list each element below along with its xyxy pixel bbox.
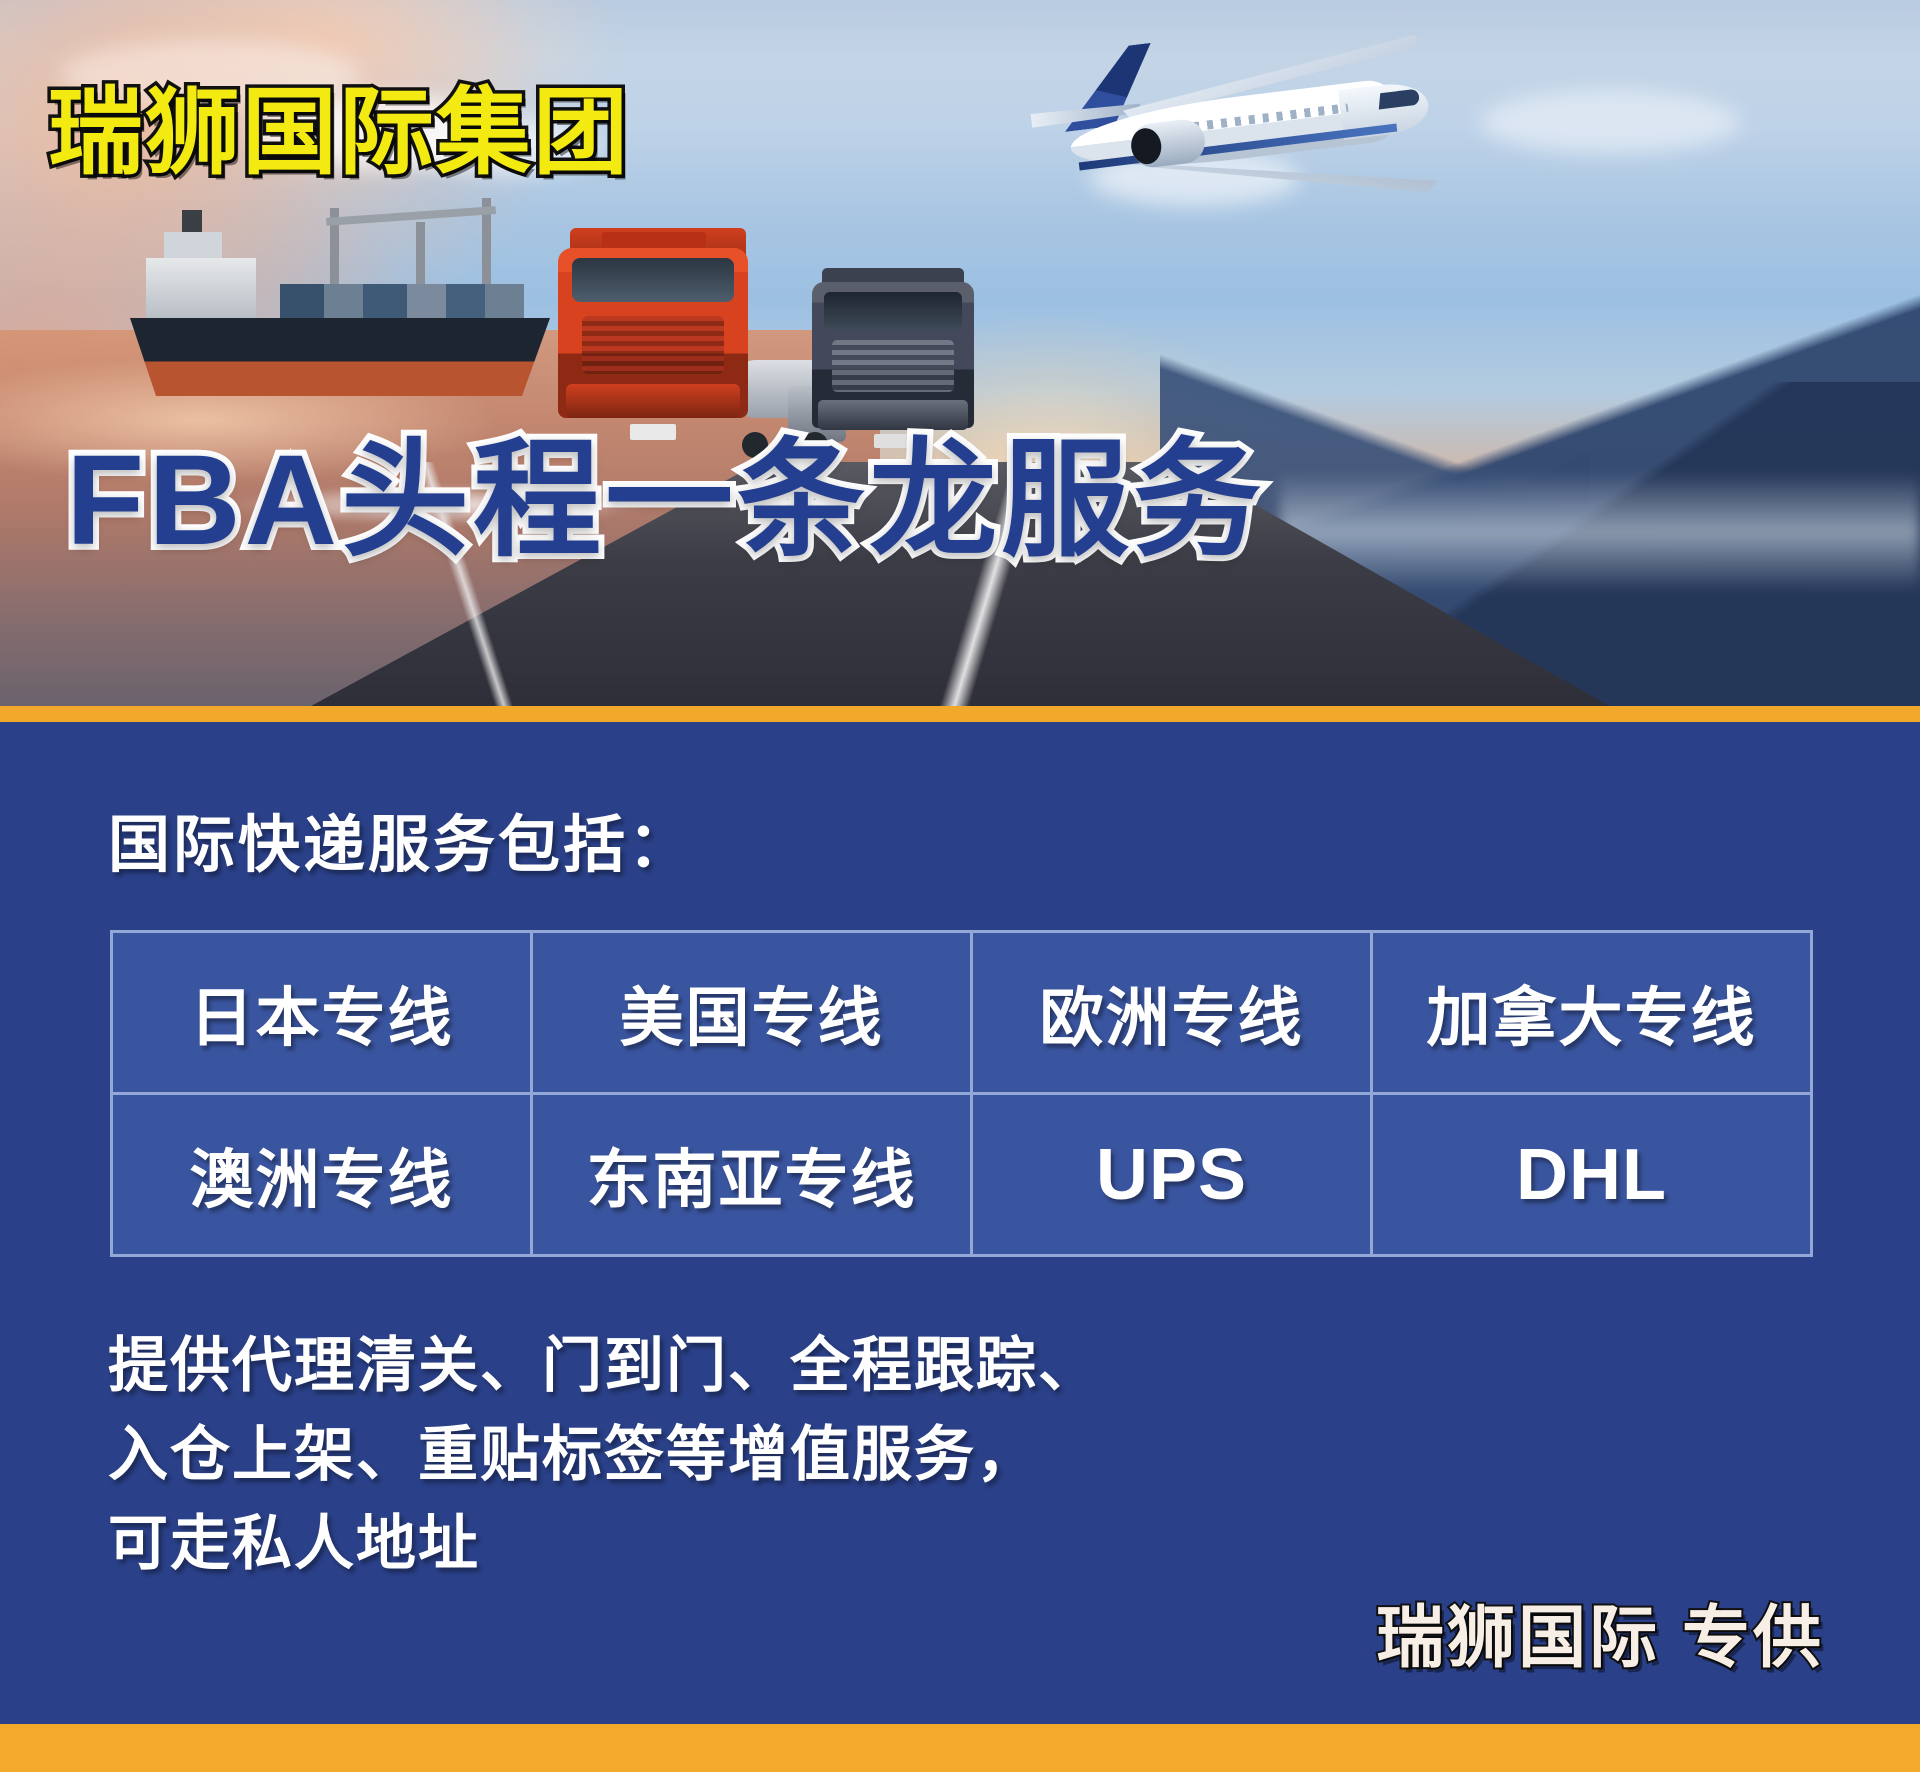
cloud-icon bbox=[1480, 90, 1740, 154]
service-cell-japan[interactable]: 日本专线 bbox=[112, 932, 532, 1094]
service-cell-sea[interactable]: 东南亚专线 bbox=[532, 1094, 972, 1256]
truck-grille bbox=[582, 316, 724, 374]
body-line-1: 提供代理清关、门到门、全程跟踪、 bbox=[108, 1322, 1428, 1411]
ship-bridge bbox=[164, 232, 222, 258]
ship-funnel bbox=[182, 210, 202, 232]
ship-hull bbox=[130, 318, 550, 396]
poster-root: 瑞狮国际集团 FBA头程一条龙服务 国际快递服务包括： 日本专线 美国专线 欧洲… bbox=[0, 0, 1920, 1772]
truck-windshield bbox=[824, 292, 962, 330]
hero-banner: 瑞狮国际集团 FBA头程一条龙服务 bbox=[0, 0, 1920, 712]
red-truck-icon bbox=[558, 228, 768, 460]
footer-brand-text: 瑞狮国际 专供 bbox=[1376, 1582, 1824, 1681]
ship-superstructure bbox=[146, 258, 256, 318]
services-panel: 国际快递服务包括： 日本专线 美国专线 欧洲专线 加拿大专线 澳洲专线 东南亚专… bbox=[0, 722, 1920, 1724]
service-cell-europe[interactable]: 欧洲专线 bbox=[972, 932, 1372, 1094]
body-line-2: 入仓上架、重贴标签等增值服务， bbox=[108, 1411, 1428, 1500]
hero-headline: FBA头程一条龙服务 bbox=[66, 432, 1265, 570]
gold-divider-top bbox=[0, 706, 1920, 722]
truck-bumper bbox=[566, 384, 740, 418]
services-table: 日本专线 美国专线 欧洲专线 加拿大专线 澳洲专线 东南亚专线 UPS DHL bbox=[110, 930, 1813, 1257]
table-row: 澳洲专线 东南亚专线 UPS DHL bbox=[112, 1094, 1812, 1256]
body-line-3: 可走私人地址 bbox=[108, 1500, 1428, 1589]
company-logo-text: 瑞狮国际集团 bbox=[48, 86, 630, 181]
gold-divider-bottom bbox=[0, 1724, 1920, 1772]
service-cell-canada[interactable]: 加拿大专线 bbox=[1372, 932, 1812, 1094]
service-cell-usa[interactable]: 美国专线 bbox=[532, 932, 972, 1094]
service-cell-ups[interactable]: UPS bbox=[972, 1094, 1372, 1256]
service-cell-dhl[interactable]: DHL bbox=[1372, 1094, 1812, 1256]
ship-containers bbox=[280, 284, 524, 318]
truck-bumper bbox=[818, 400, 968, 430]
truck-grille bbox=[832, 340, 954, 392]
table-row: 日本专线 美国专线 欧洲专线 加拿大专线 bbox=[112, 932, 1812, 1094]
panel-heading: 国际快递服务包括： bbox=[108, 794, 693, 884]
service-cell-australia[interactable]: 澳洲专线 bbox=[112, 1094, 532, 1256]
value-added-services-copy: 提供代理清关、门到门、全程跟踪、 入仓上架、重贴标签等增值服务， 可走私人地址 bbox=[108, 1322, 1428, 1588]
cargo-ship-icon bbox=[130, 236, 550, 396]
truck-windshield bbox=[572, 258, 734, 302]
